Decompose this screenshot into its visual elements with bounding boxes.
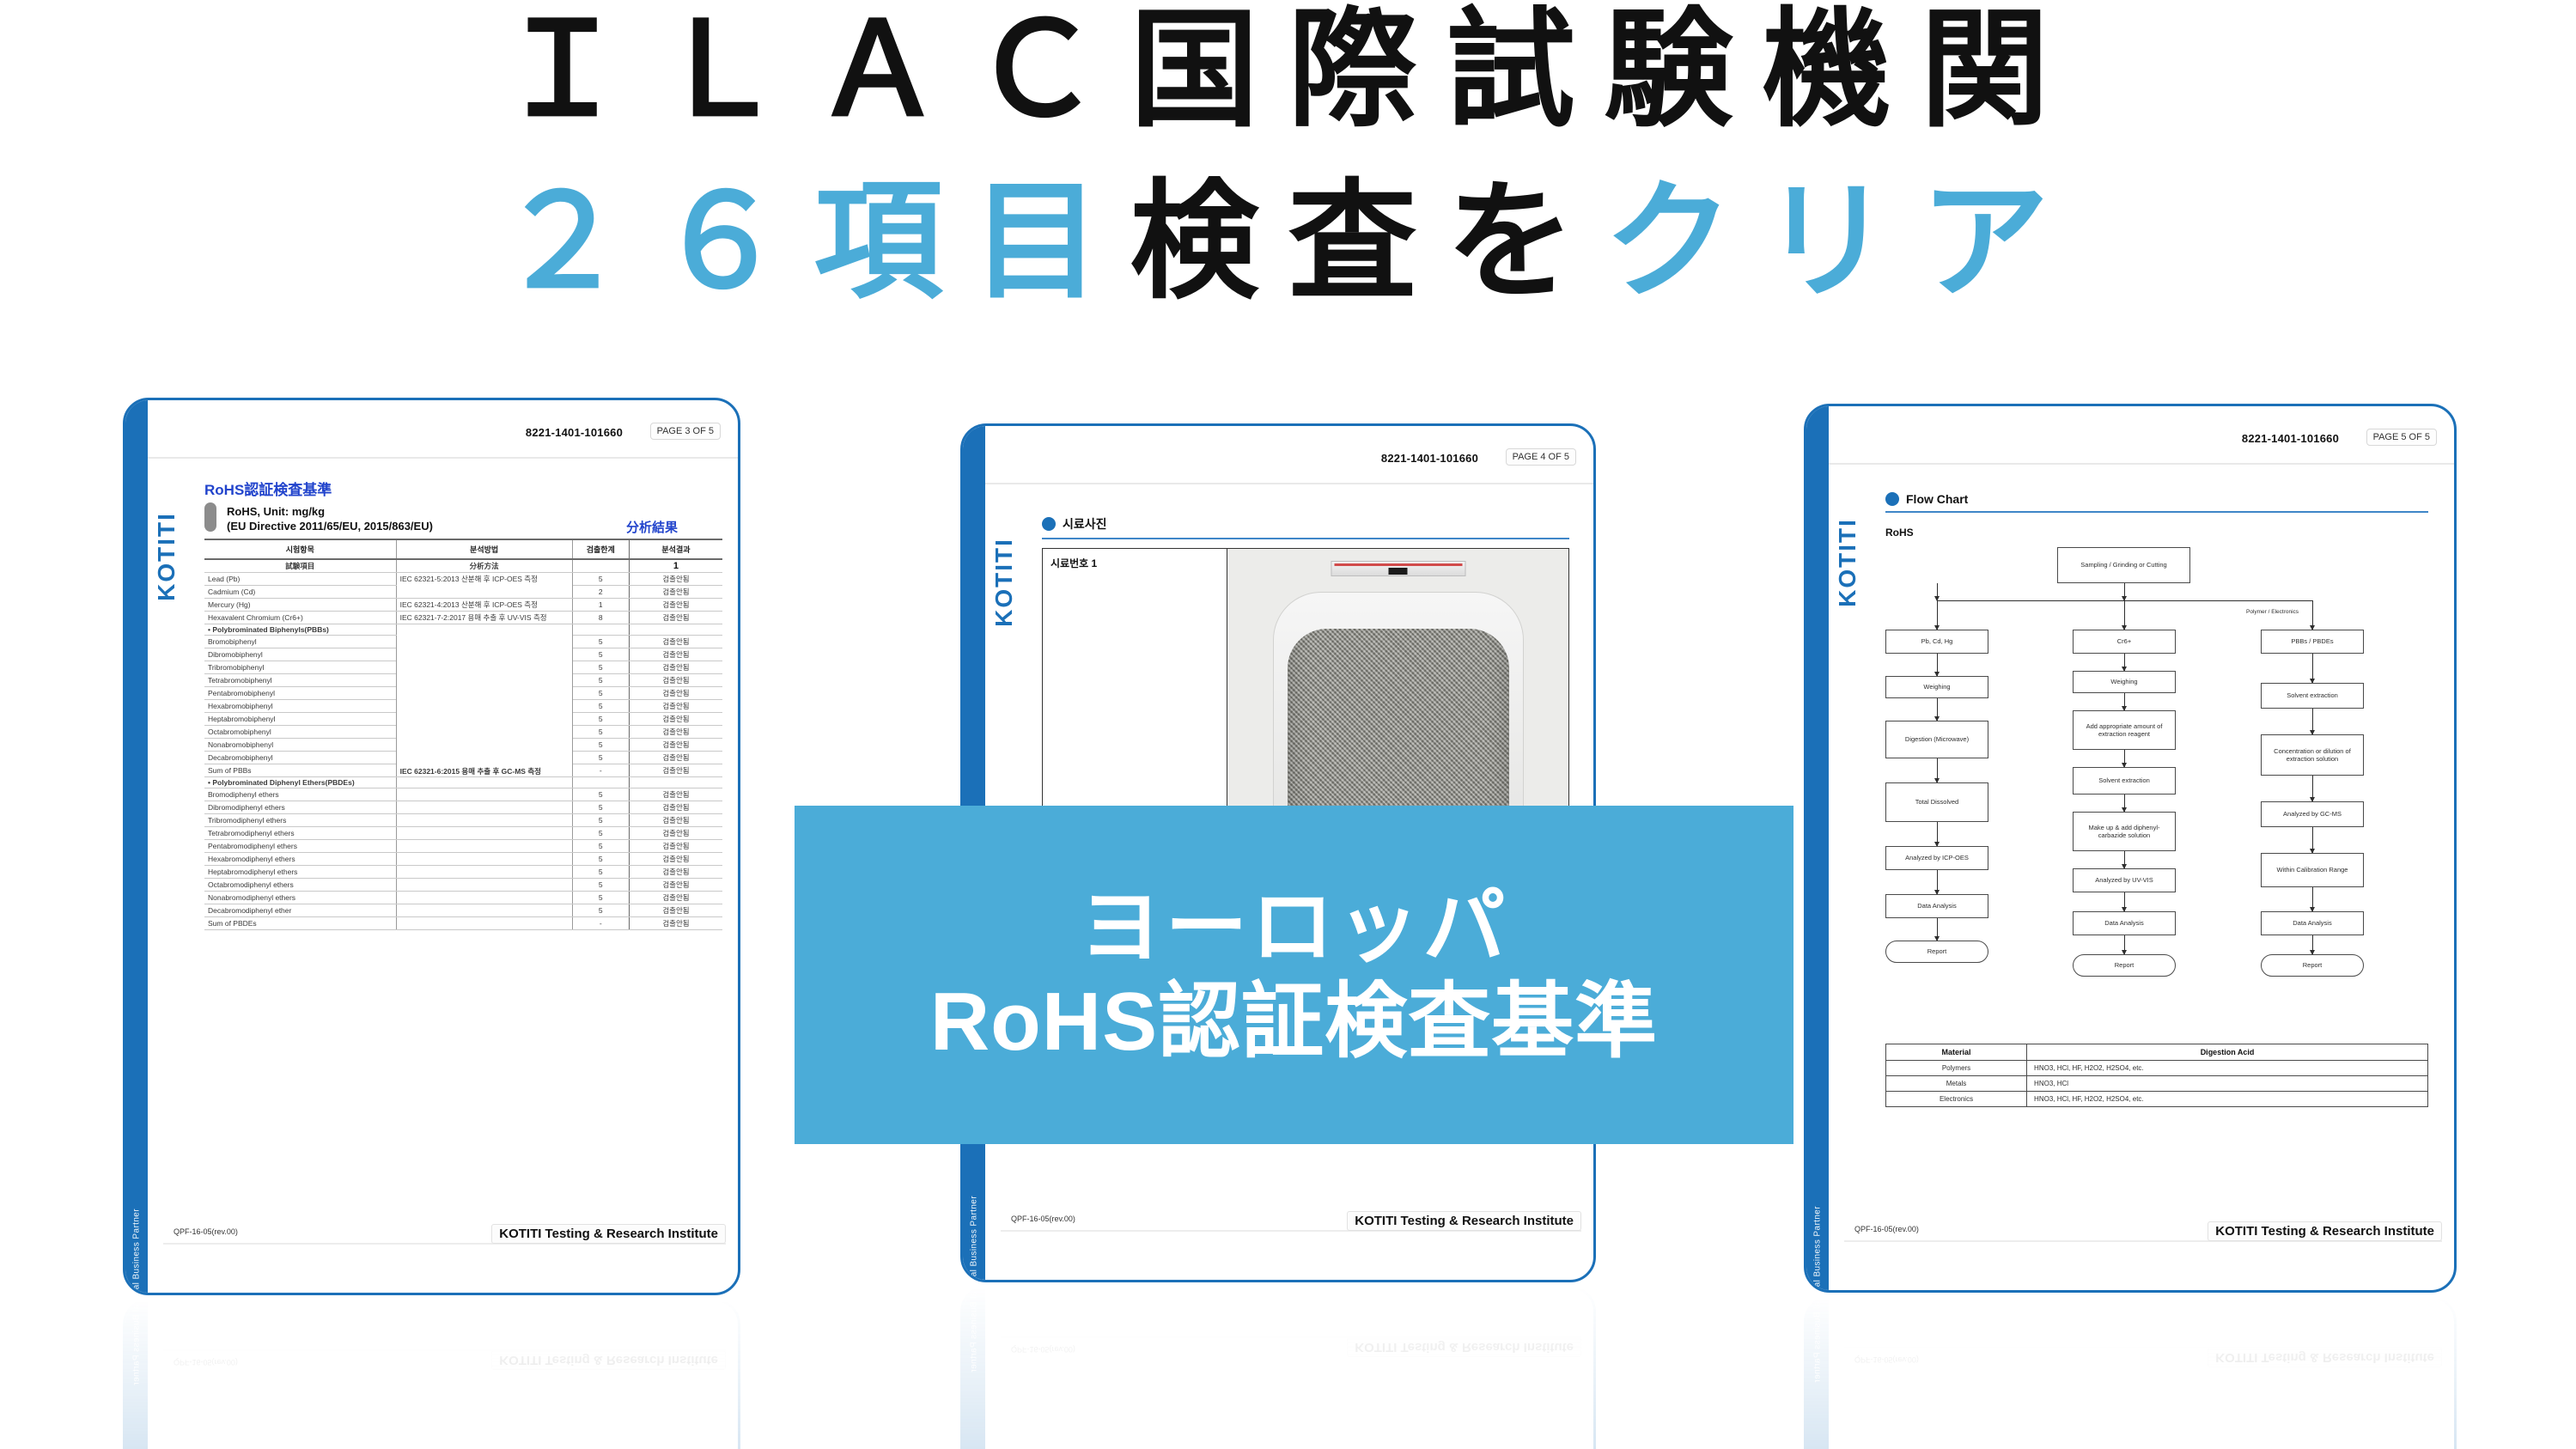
doc1-footer-code: QPF-16-05(rev.00)	[174, 1227, 238, 1236]
anno-col-result: 1	[629, 559, 722, 573]
flow-c2-node-1: Weighing	[2073, 671, 2176, 693]
row-limit: 5	[572, 674, 629, 687]
table-row: Lead (Pb) IEC 62321-5:2013 산분해 후 ICP-OES…	[204, 573, 722, 586]
doc2-footer-institute: KOTITI Testing & Research Institute	[1347, 1337, 1581, 1357]
row-item: Lead (Pb)	[204, 573, 396, 586]
row-result: 검출안됨	[629, 648, 722, 661]
row-item: Nonabromobiphenyl	[204, 739, 396, 752]
row-result: 검출안됨	[629, 700, 722, 713]
row-item: Octabromobiphenyl	[204, 726, 396, 739]
table-row: Tribromodiphenyl ethers5검출안됨	[204, 814, 722, 827]
row-result: 검출안됨	[629, 573, 722, 586]
table-row: Octabromodiphenyl ethers5검출안됨	[204, 879, 722, 892]
row-result: 검출안됨	[629, 917, 722, 930]
table-row: Electronics HNO3, HCl, HF, H2O2, H2SO4, …	[1886, 1092, 2428, 1107]
row-limit: 8	[572, 612, 629, 624]
doc3-header: 8221-1401-101660 PAGE 5 OF 5	[1844, 425, 2442, 463]
row-item: Pentabromobiphenyl	[204, 687, 396, 700]
row-result: 검출안됨	[629, 827, 722, 840]
table-row: Hexavalent Chromium (Cr6+) IEC 62321-7-2…	[204, 612, 722, 624]
row-item: Sum of PBBs	[204, 764, 396, 777]
group-method-gcms: IEC 62321-6:2015 용매 추출 후 GC-MS 측정	[396, 624, 572, 777]
mat-acid: HNO3, HCl	[2027, 1076, 2428, 1092]
row-limit: 5	[572, 788, 629, 801]
row-result: 검출안됨	[629, 788, 722, 801]
headline-line-2: ２６項目検査をクリア	[0, 177, 2576, 306]
doc1-report-number: 8221-1401-101660	[526, 426, 623, 439]
doc2-sidebar-label: Global Business Partner	[970, 1182, 979, 1283]
table-row: Hexabromodiphenyl ethers5검출안됨	[204, 853, 722, 866]
anno-col-item: 試験項目	[204, 559, 396, 573]
row-item: Bromodiphenyl ethers	[204, 788, 396, 801]
doc1-body: RoHS認証検査基準 RoHS, Unit: mg/kg (EU Directi…	[204, 1365, 722, 1449]
row-result: 검출안됨	[629, 612, 722, 624]
row-item: Tetrabromobiphenyl	[204, 674, 396, 687]
doc2-logo-badge: KOTITI	[985, 466, 1023, 689]
flow-c1-arrow-5	[1937, 918, 1938, 941]
doc3-header-rule	[1829, 463, 2454, 465]
doc2-footer-institute: KOTITI Testing & Research Institute	[1347, 1211, 1581, 1231]
flow-c2-arrow-5	[2124, 892, 2125, 911]
row-limit: 5	[572, 904, 629, 917]
doc1-footer: QPF-16-05(rev.00) KOTITI Testing & Resea…	[163, 1243, 726, 1270]
row-limit: -	[572, 917, 629, 930]
ruler-icon	[1331, 561, 1465, 576]
row-limit: 5	[572, 700, 629, 713]
row-item: Heptabromodiphenyl ethers	[204, 866, 396, 879]
flow-c2-node-4: Make up & add diphenyl-carbazide solutio…	[2073, 812, 2176, 851]
digestion-acid-table: Material Digestion Acid Polymers HNO3, H…	[1885, 1044, 2428, 1107]
row-method: IEC 62321-7-2:2017 용매 추출 후 UV-VIS 측정	[396, 612, 572, 624]
mat-material: Polymers	[1886, 1061, 2027, 1076]
flow-c2-node-6: Data Analysis	[2073, 911, 2176, 935]
row-result: 검출안됨	[629, 687, 722, 700]
row-limit: 5	[572, 713, 629, 726]
doc2-section-title: 시료사진	[1063, 515, 1107, 533]
doc1-footer: QPF-16-05(rev.00) KOTITI Testing & Resea…	[163, 1324, 726, 1351]
flow-c2-node-5: Analyzed by UV-VIS	[2073, 868, 2176, 892]
row-limit: 5	[572, 840, 629, 853]
doc2-footer: QPF-16-05(rev.00) KOTITI Testing & Resea…	[1001, 1311, 1581, 1338]
table-row: Mercury (Hg) IEC 62321-4:2013 산분해 후 ICP-…	[204, 599, 722, 612]
row-method: IEC 62321-5:2013 산분해 후 ICP-OES 측정	[396, 573, 572, 599]
table-row: Tetrabromodiphenyl ethers5검출안됨	[204, 827, 722, 840]
mat-col-material: Material	[1886, 1044, 2027, 1061]
flow-c1-node-6: Report	[1885, 941, 1988, 963]
row-limit: 5	[572, 879, 629, 892]
flow-c2-node-7: Report	[2073, 954, 2176, 977]
group-header-pbdes: • Polybrominated Diphenyl Ethers(PBDEs)	[204, 777, 722, 788]
row-item: Hexavalent Chromium (Cr6+)	[204, 612, 396, 624]
row-result: 검출안됨	[629, 764, 722, 777]
headline-line2-blue-a: ２６項目	[497, 169, 1130, 314]
col-header-limit: 검출한계	[572, 539, 629, 559]
flow-arrow-col2	[2124, 600, 2125, 630]
doc2-section-rule	[1042, 538, 1569, 539]
anno-col-limit	[572, 559, 629, 573]
flow-c2-arrow-6	[2124, 935, 2125, 954]
row-item: Dibromobiphenyl	[204, 648, 396, 661]
row-item: Tribromodiphenyl ethers	[204, 814, 396, 827]
row-result: 검출안됨	[629, 661, 722, 674]
mat-acid: HNO3, HCl, HF, H2O2, H2SO4, etc.	[2027, 1061, 2428, 1076]
flow-c1-arrow-3	[1937, 822, 1938, 846]
row-item: Bromobiphenyl	[204, 636, 396, 648]
headline-line2-black: 検査を	[1130, 169, 1604, 314]
doc2-page-label: PAGE 4 OF 5	[1506, 448, 1576, 466]
doc1-footer-institute: KOTITI Testing & Research Institute	[491, 1224, 726, 1244]
table-header-row: 시험항목 분석방법 검출한계 분석결과	[204, 539, 722, 559]
row-item: Mercury (Hg)	[204, 599, 396, 612]
group-label: • Polybrominated Biphenyls(PBBs)	[204, 624, 396, 636]
doc2-sidebar: Global Business Partner	[963, 1288, 985, 1449]
doc1-header: 8221-1401-101660 PAGE 3 OF 5	[163, 419, 726, 457]
flow-c3-node-6: Report	[2261, 954, 2364, 977]
doc2-reflection: Global Business Partner KOTITI 8221-1401…	[960, 1286, 1596, 1449]
col-header-result: 분석결과	[629, 539, 722, 559]
doc3-footer: QPF-16-05(rev.00) KOTITI Testing & Resea…	[1844, 1240, 2442, 1268]
table-row: Metals HNO3, HCl	[1886, 1076, 2428, 1092]
flow-c1-node-3: Total Dissolved	[1885, 782, 1988, 822]
flow-arrow-top-left	[1937, 583, 1938, 600]
doc3-sidebar-label: Global Business Partner	[1813, 1192, 1823, 1294]
flow-c3-node-4: Within Calibration Range	[2261, 853, 2364, 887]
row-limit: -	[572, 764, 629, 777]
overlay-banner: ヨーロッパ RoHS認証検査基準	[795, 806, 1793, 1144]
flow-c3-arrow-1	[2312, 709, 2313, 734]
kotiti-logo: KOTITI	[1834, 451, 1861, 674]
flow-c2-node-2: Add appropriate amount of extraction rea…	[2073, 710, 2176, 750]
row-result: 검출안됨	[629, 726, 722, 739]
flow-c3-node-5: Data Analysis	[2261, 911, 2364, 935]
anno-col-method: 分析方法	[396, 559, 572, 573]
flow-c1-node-1: Weighing	[1885, 676, 1988, 698]
col-header-item: 시험항목	[204, 539, 396, 559]
row-limit: 5	[572, 739, 629, 752]
doc3-body: Flow Chart RoHS Sampling / Grinding or C…	[1885, 1361, 2428, 1449]
doc2-report-number: 8221-1401-101660	[1381, 452, 1478, 465]
flow-c3-node-3: Analyzed by GC-MS	[2261, 801, 2364, 827]
row-limit: 5	[572, 801, 629, 814]
doc3-page-label: PAGE 5 OF 5	[2366, 429, 2437, 446]
flow-c2-node-3: Solvent extraction	[2073, 767, 2176, 795]
row-result: 검출안됨	[629, 586, 722, 599]
row-limit: 5	[572, 636, 629, 648]
row-result: 검출안됨	[629, 892, 722, 904]
row-result: 검출안됨	[629, 904, 722, 917]
flow-arrow-col3	[2312, 600, 2313, 630]
doc1-footer-institute: KOTITI Testing & Research Institute	[491, 1350, 726, 1370]
flow-c2-node-0: Cr6+	[2073, 630, 2176, 654]
row-result: 검출안됨	[629, 713, 722, 726]
row-item: Heptabromobiphenyl	[204, 713, 396, 726]
row-result: 검출안됨	[629, 636, 722, 648]
flow-c1-node-2: Digestion (Microwave)	[1885, 721, 1988, 758]
row-result: 검출안됨	[629, 879, 722, 892]
doc1-heading-line-1: RoHS, Unit: mg/kg	[227, 504, 722, 519]
table-annotation-row: 試験項目 分析方法 1	[204, 559, 722, 573]
row-limit: 5	[572, 752, 629, 764]
kotiti-logo: KOTITI	[153, 445, 180, 668]
flow-c3-node-2: Concentration or dilution of extraction …	[2261, 734, 2364, 776]
row-result: 검출안됨	[629, 853, 722, 866]
flow-node-top: Sampling / Grinding or Cutting	[2057, 547, 2190, 583]
flow-c3-arrow-2	[2312, 776, 2313, 801]
table-row: Nonabromodiphenyl ethers5검출안됨	[204, 892, 722, 904]
row-item: Cadmium (Cd)	[204, 586, 396, 599]
table-row: Heptabromodiphenyl ethers5검출안됨	[204, 866, 722, 879]
row-item: Nonabromodiphenyl ethers	[204, 892, 396, 904]
row-limit: 5	[572, 892, 629, 904]
flow-c3-arrow-5	[2312, 935, 2313, 954]
doc1-reflection: Global Business Partner KOTITI 8221-1401…	[123, 1299, 740, 1449]
doc3-section-header: Flow Chart	[1885, 492, 2428, 506]
doc1-header-rule	[148, 457, 738, 459]
doc2-footer-code: QPF-16-05(rev.00)	[1011, 1345, 1075, 1354]
flow-c3-node-1: Solvent extraction	[2261, 683, 2364, 709]
flow-arrow-top-center	[2124, 583, 2125, 600]
doc3-reflection: Global Business Partner KOTITI 8221-1401…	[1804, 1296, 2457, 1449]
flow-branch-label: Polymer / Electronics	[2246, 609, 2299, 615]
row-item: Tetrabromodiphenyl ethers	[204, 827, 396, 840]
doc3-report-number: 8221-1401-101660	[2242, 432, 2339, 445]
row-item: Decabromobiphenyl	[204, 752, 396, 764]
doc2-body: 시료사진 시료번호 1 82211401101660	[1042, 1349, 1569, 1449]
row-result: 검출안됨	[629, 739, 722, 752]
flow-c2-arrow-3	[2124, 795, 2125, 812]
mat-col-acid: Digestion Acid	[2027, 1044, 2428, 1061]
rohs-flow-chart: Sampling / Grinding or Cutting Polymer /…	[1885, 547, 2428, 1028]
doc2-header: 8221-1401-101660 PAGE 4 OF 5	[1001, 445, 1581, 483]
doc3-footer-code: QPF-16-05(rev.00)	[1854, 1355, 1919, 1364]
table-row: Dibromodiphenyl ethers5검출안됨	[204, 801, 722, 814]
doc1-sidebar-label: Global Business Partner	[132, 1299, 142, 1400]
doc3-sidebar: Global Business Partner	[1806, 406, 1829, 1290]
row-limit: 5	[572, 573, 629, 586]
group-header-pbbs: • Polybrominated Biphenyls(PBBs) IEC 623…	[204, 624, 722, 636]
doc3-body: Flow Chart RoHS Sampling / Grinding or C…	[1885, 485, 2428, 1228]
section-dot-icon	[1885, 492, 1899, 506]
doc3-footer: QPF-16-05(rev.00) KOTITI Testing & Resea…	[1844, 1321, 2442, 1349]
doc1-logo-badge: KOTITI	[148, 440, 186, 663]
doc2-header-rule	[985, 483, 1593, 484]
flow-c1-arrow-1	[1937, 698, 1938, 721]
mat-header-row: Material Digestion Acid	[1886, 1044, 2428, 1061]
doc3-logo-badge: KOTITI	[1829, 446, 1867, 669]
table-row: Sum of PBDEs-검출안됨	[204, 917, 722, 930]
flow-c1-arrow-0	[1937, 654, 1938, 676]
doc3-sidebar-label: Global Business Partner	[1813, 1296, 1823, 1397]
mat-material: Electronics	[1886, 1092, 2027, 1107]
row-limit: 5	[572, 827, 629, 840]
report-card-page-3[interactable]: Global Business Partner KOTITI 8221-1401…	[123, 398, 740, 1295]
row-item: Octabromodiphenyl ethers	[204, 879, 396, 892]
flow-c3-arrow-3	[2312, 827, 2313, 853]
report-card-page-3[interactable]: Global Business Partner KOTITI 8221-1401…	[123, 1299, 740, 1449]
flow-c2-arrow-0	[2124, 654, 2125, 671]
flow-c2-arrow-2	[2124, 750, 2125, 767]
headline-line2-blue-b: クリア	[1605, 169, 2079, 314]
banner-line-1: ヨーロッパ	[1080, 883, 1509, 972]
doc1-sidebar-label: Global Business Partner	[132, 1195, 142, 1296]
doc1-annotation-title: RoHS認証検査基準	[204, 478, 722, 499]
row-item: Hexabromodiphenyl ethers	[204, 853, 396, 866]
row-limit: 5	[572, 866, 629, 879]
row-limit: 5	[572, 814, 629, 827]
flow-c3-node-0: PBBs / PBDEs	[2261, 630, 2364, 654]
table-row: Polymers HNO3, HCl, HF, H2O2, H2SO4, etc…	[1886, 1061, 2428, 1076]
row-limit: 2	[572, 586, 629, 599]
row-limit: 5	[572, 661, 629, 674]
doc1-sidebar: Global Business Partner	[125, 1301, 148, 1449]
doc3-section-title: Flow Chart	[1906, 492, 1968, 506]
doc2-section-header: 시료사진	[1042, 515, 1569, 533]
doc1-body: RoHS認証検査基準 RoHS, Unit: mg/kg (EU Directi…	[204, 474, 722, 1229]
row-result: 검출안됨	[629, 840, 722, 853]
doc3-footer-institute: KOTITI Testing & Research Institute	[2208, 1221, 2442, 1241]
flow-c1-node-5: Data Analysis	[1885, 894, 1988, 918]
report-card-page-4[interactable]: Global Business Partner KOTITI 8221-1401…	[960, 1286, 1596, 1449]
section-dot-icon	[1042, 517, 1056, 531]
kotiti-logo: KOTITI	[990, 471, 1018, 694]
row-item: Pentabromodiphenyl ethers	[204, 840, 396, 853]
row-result: 검출안됨	[629, 801, 722, 814]
doc3-footer-institute: KOTITI Testing & Research Institute	[2208, 1348, 2442, 1367]
report-card-page-5[interactable]: Global Business Partner KOTITI 8221-1401…	[1804, 404, 2457, 1293]
doc3-scheme-label: RoHS	[1885, 527, 2428, 539]
headline-block: ＩＬＡＣ国際試験機関 ２６項目検査をクリア	[0, 0, 2576, 378]
doc1-footer-code: QPF-16-05(rev.00)	[174, 1358, 238, 1367]
doc3-footer-code: QPF-16-05(rev.00)	[1854, 1225, 1919, 1233]
mat-material: Metals	[1886, 1076, 2027, 1092]
mat-acid: HNO3, HCl, HF, H2O2, H2SO4, etc.	[2027, 1092, 2428, 1107]
flow-c2-arrow-1	[2124, 693, 2125, 710]
row-limit: 5	[572, 648, 629, 661]
row-result: 검출안됨	[629, 674, 722, 687]
row-result: 검출안됨	[629, 866, 722, 879]
report-card-page-5[interactable]: Global Business Partner KOTITI 8221-1401…	[1804, 1296, 2457, 1449]
doc1-page-label: PAGE 3 OF 5	[650, 423, 721, 440]
flow-c2-arrow-4	[2124, 851, 2125, 868]
row-result: 검출안됨	[629, 599, 722, 612]
table-row: Bromodiphenyl ethers5검출안됨	[204, 788, 722, 801]
row-item: Decabromodiphenyl ether	[204, 904, 396, 917]
flow-c1-arrow-4	[1937, 870, 1938, 894]
doc1-sidebar: Global Business Partner	[125, 400, 148, 1293]
flow-arrow-col1	[1937, 600, 1938, 630]
sample-number-label: 시료번호 1	[1050, 556, 1227, 570]
row-item: Sum of PBDEs	[204, 917, 396, 930]
doc1-bullet-mark	[204, 502, 216, 532]
row-limit: 1	[572, 599, 629, 612]
doc2-footer: QPF-16-05(rev.00) KOTITI Testing & Resea…	[1001, 1230, 1581, 1257]
row-item: Tribromobiphenyl	[204, 661, 396, 674]
doc1-annotation-result: 分析結果	[626, 518, 678, 536]
row-limit: 5	[572, 726, 629, 739]
doc2-footer-code: QPF-16-05(rev.00)	[1011, 1215, 1075, 1223]
table-row: Pentabromodiphenyl ethers5검출안됨	[204, 840, 722, 853]
doc3-sidebar: Global Business Partner	[1806, 1299, 1829, 1449]
flow-c1-node-0: Pb, Cd, Hg	[1885, 630, 1988, 654]
row-limit: 5	[572, 853, 629, 866]
row-item: Hexabromobiphenyl	[204, 700, 396, 713]
row-result: 검출안됨	[629, 814, 722, 827]
row-limit: 5	[572, 687, 629, 700]
flow-c3-arrow-0	[2312, 654, 2313, 683]
headline-line-1: ＩＬＡＣ国際試験機関	[0, 5, 2576, 134]
flow-c1-arrow-2	[1937, 758, 1938, 782]
doc2-sidebar-label: Global Business Partner	[970, 1286, 979, 1387]
row-method: IEC 62321-4:2013 산분해 후 ICP-OES 측정	[396, 599, 572, 612]
banner-line-2: RoHS認証検査基準	[930, 977, 1658, 1067]
doc3-section-rule	[1885, 511, 2428, 513]
group-label: • Polybrominated Diphenyl Ethers(PBDEs)	[204, 777, 396, 788]
rohs-results-table: 시험항목 분석방법 검출한계 분석결과 試験項目 分析方法 1 Lead (Pb	[204, 539, 722, 930]
flow-c3-arrow-4	[2312, 887, 2313, 911]
table-row: Decabromodiphenyl ether5검출안됨	[204, 904, 722, 917]
row-result: 검출안됨	[629, 752, 722, 764]
col-header-method: 분석방법	[396, 539, 572, 559]
flow-c1-node-4: Analyzed by ICP-OES	[1885, 846, 1988, 870]
row-item: Dibromodiphenyl ethers	[204, 801, 396, 814]
